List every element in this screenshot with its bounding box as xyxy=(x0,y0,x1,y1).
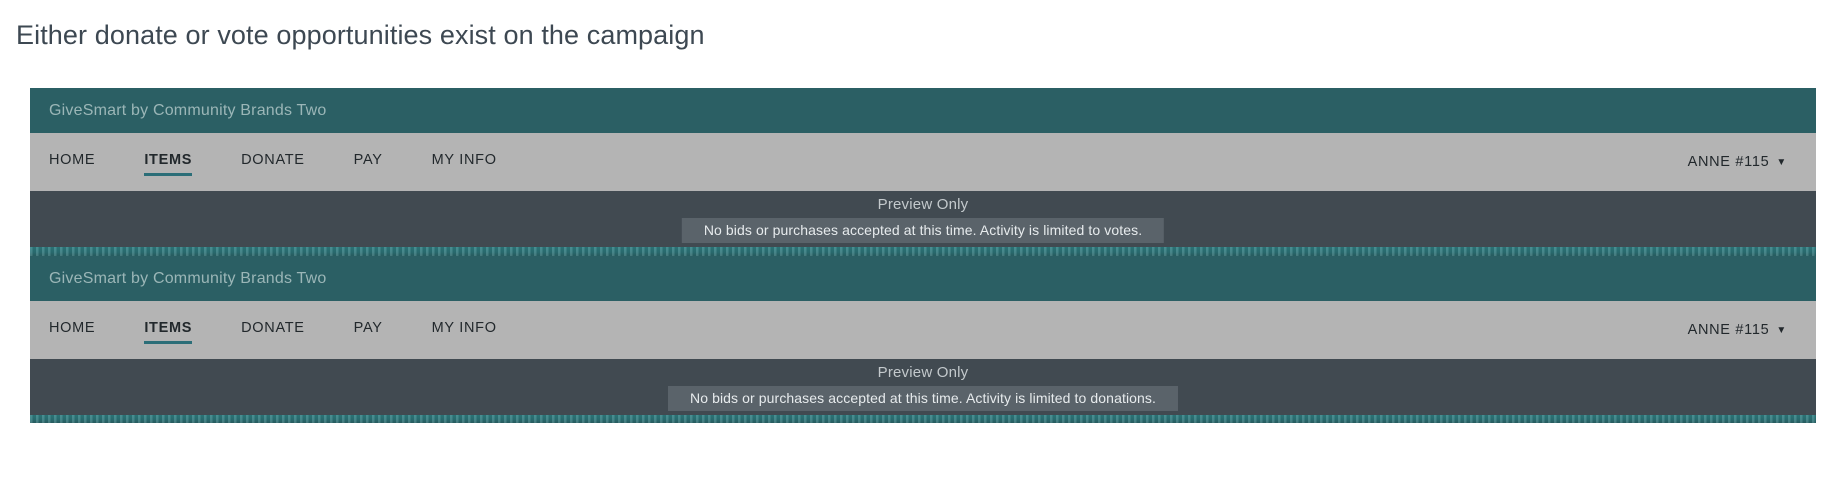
account-menu[interactable]: ANNE #115 ▼ xyxy=(1688,154,1787,170)
chevron-down-icon: ▼ xyxy=(1776,326,1787,336)
page-title: Either donate or vote opportunities exis… xyxy=(16,20,705,51)
nav-item-donate[interactable]: DONATE xyxy=(241,320,305,340)
main-navigation: HOME ITEMS DONATE PAY MY INFO ANNE #115 … xyxy=(30,133,1816,191)
brand-name: GiveSmart by Community Brands Two xyxy=(49,270,327,288)
account-label: ANNE #115 xyxy=(1688,322,1770,338)
nav-item-pay[interactable]: PAY xyxy=(354,152,383,172)
nav-item-donate[interactable]: DONATE xyxy=(241,152,305,172)
main-navigation: HOME ITEMS DONATE PAY MY INFO ANNE #115 … xyxy=(30,301,1816,359)
chevron-down-icon: ▼ xyxy=(1776,158,1787,168)
preview-banner-message: No bids or purchases accepted at this ti… xyxy=(668,386,1178,411)
preview-banner-message: No bids or purchases accepted at this ti… xyxy=(682,218,1164,243)
content-teal-strip xyxy=(30,247,1816,256)
nav-item-items[interactable]: ITEMS xyxy=(144,320,192,340)
nav-item-list: HOME ITEMS DONATE PAY MY INFO xyxy=(49,320,546,340)
nav-item-pay[interactable]: PAY xyxy=(354,320,383,340)
preview-banner-title: Preview Only xyxy=(30,196,1816,213)
campaign-preview-shot-donations: GiveSmart by Community Brands Two HOME I… xyxy=(30,256,1816,423)
nav-item-my-info[interactable]: MY INFO xyxy=(432,320,497,340)
nav-item-items[interactable]: ITEMS xyxy=(144,152,192,172)
account-label: ANNE #115 xyxy=(1688,154,1770,170)
nav-item-my-info[interactable]: MY INFO xyxy=(432,152,497,172)
campaign-preview-shot-votes: GiveSmart by Community Brands Two HOME I… xyxy=(30,88,1816,256)
screenshot-stack: GiveSmart by Community Brands Two HOME I… xyxy=(30,88,1816,423)
nav-item-home[interactable]: HOME xyxy=(49,152,95,172)
preview-banner: Preview Only No bids or purchases accept… xyxy=(30,191,1816,247)
account-menu[interactable]: ANNE #115 ▼ xyxy=(1688,322,1787,338)
brand-name: GiveSmart by Community Brands Two xyxy=(49,102,327,120)
nav-item-list: HOME ITEMS DONATE PAY MY INFO xyxy=(49,152,546,172)
content-teal-strip xyxy=(30,415,1816,423)
brand-bar: GiveSmart by Community Brands Two xyxy=(30,256,1816,301)
preview-banner-title: Preview Only xyxy=(30,364,1816,381)
brand-bar: GiveSmart by Community Brands Two xyxy=(30,88,1816,133)
nav-item-home[interactable]: HOME xyxy=(49,320,95,340)
preview-banner: Preview Only No bids or purchases accept… xyxy=(30,359,1816,415)
